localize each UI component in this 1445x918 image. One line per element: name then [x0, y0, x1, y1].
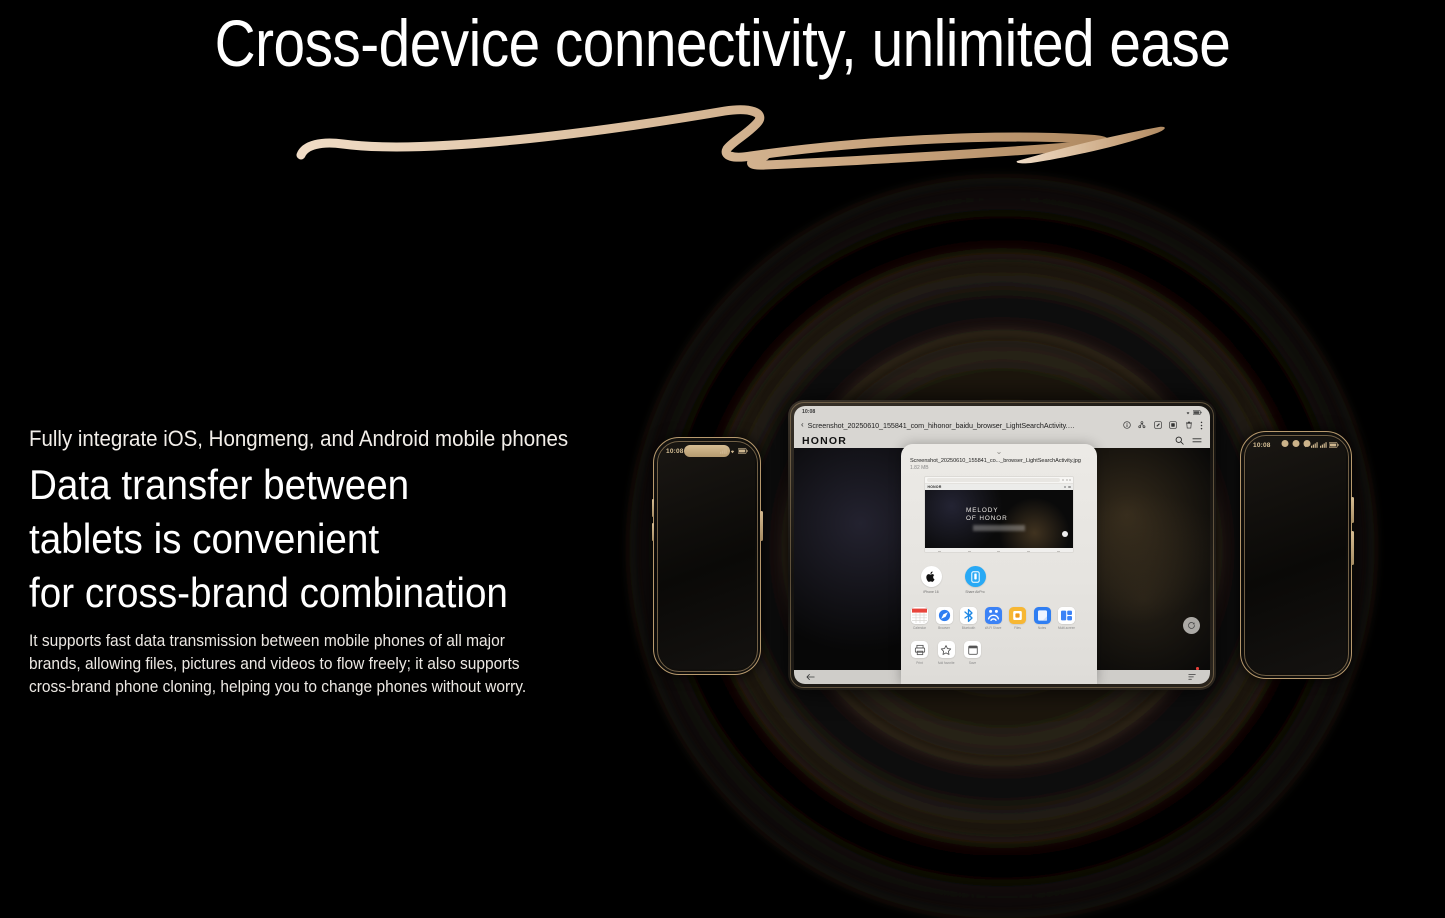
video-title-line-2: OF HONOR	[966, 515, 1032, 523]
share-app-favorite-label: Add favorite	[938, 661, 955, 665]
device-iphone-left[interactable]: 10:08	[653, 437, 761, 675]
body-line-3: cross-brand phone cloning, helping you t…	[29, 676, 612, 699]
share-app-notes[interactable]: Notes	[1034, 607, 1051, 631]
info-icon[interactable]	[1123, 421, 1131, 429]
android-power-button[interactable]	[1351, 497, 1354, 523]
browser-glyph	[936, 607, 953, 624]
rotate-icon[interactable]	[1183, 617, 1200, 634]
android-volume-button[interactable]	[1351, 531, 1354, 565]
tablet-screen: 10:08 ‹ Screenshot_20250610_155841_com_h…	[794, 406, 1210, 684]
copy-eyebrow: Fully integrate iOS, Hongmeng, and Andro…	[29, 424, 606, 454]
signal-icon	[720, 448, 727, 454]
gallery-top-chrome: 10:08 ‹ Screenshot_20250610_155841_com_h…	[794, 406, 1210, 448]
android-screen	[1246, 437, 1346, 673]
phone-share-icon	[965, 566, 986, 587]
preview-browser-bar	[925, 477, 1073, 484]
share-app-print[interactable]: Print	[911, 641, 928, 665]
marketing-copy-block: Fully integrate iOS, Hongmeng, and Andro…	[29, 424, 649, 699]
files-icon	[1009, 607, 1026, 624]
video-title-line-1: MELODY	[966, 507, 1032, 515]
share-sheet-filename: Screenshot_20250610_155841_co..._browser…	[910, 458, 1088, 464]
share-app-favorite[interactable]: Add favorite	[938, 641, 955, 665]
share-app-save[interactable]: Save	[964, 641, 981, 665]
nav-back-icon[interactable]	[806, 673, 815, 681]
more-icon[interactable]	[1200, 421, 1203, 430]
decorative-swoosh-icon	[295, 95, 1175, 175]
files-glyph	[1009, 607, 1026, 624]
preview-header-icons	[1064, 486, 1071, 489]
device-android-right[interactable]: 10:08	[1240, 431, 1352, 679]
share-app-browser-label: Browser	[936, 626, 953, 630]
iphone-volume-down-button[interactable]	[652, 523, 655, 541]
share-app-save-label: Save	[964, 661, 981, 665]
preview-record-dot-icon	[1062, 531, 1068, 537]
iphone-status-bar: 10:08	[659, 444, 755, 458]
share-app-calendar[interactable]: Calendar	[911, 607, 928, 631]
chevron-down-icon[interactable]: ⌄	[910, 448, 1088, 455]
bluetooth-icon	[960, 607, 977, 624]
multiscreen-glyph	[1058, 607, 1075, 624]
share-app-files[interactable]: Files	[1009, 607, 1026, 631]
share-app-bluetooth-label: Bluetooth	[960, 626, 977, 630]
phone-glyph	[971, 571, 980, 583]
tablet-status-bar: 10:08	[794, 406, 1210, 416]
share-app-wifi-share[interactable]: Wi-Fi Share	[985, 607, 1002, 631]
gallery-toolbar: ‹ Screenshot_20250610_155841_com_hihonor…	[794, 416, 1210, 433]
share-target-iphone[interactable]: iPhone 16	[916, 566, 946, 594]
share-targets-row: iPhone 16 Share AirPro	[916, 566, 1088, 594]
calendar-glyph	[911, 607, 928, 624]
heading-line-1: Data transfer between	[29, 458, 599, 512]
share-target-phone-share[interactable]: Share AirPro	[960, 566, 990, 594]
preview-video-title: MELODY OF HONOR	[966, 507, 1032, 523]
edit-icon[interactable]	[1154, 421, 1162, 429]
share-sheet-panel[interactable]: ⌄ Screenshot_20250610_155841_co..._brows…	[901, 444, 1097, 684]
preview-video-subtitle-blur	[973, 525, 1025, 531]
share-apps-row-1: Calendar Browser	[911, 607, 1088, 631]
share-app-notes-label: Notes	[1034, 626, 1051, 630]
list-glyph	[1188, 673, 1198, 681]
apple-logo-icon	[921, 566, 942, 587]
print-glyph	[914, 644, 926, 656]
notes-glyph	[1034, 607, 1051, 624]
honor-logo: HONOR	[802, 435, 847, 447]
share-app-wifi-label: Wi-Fi Share	[985, 626, 1002, 630]
wifi-icon	[1185, 410, 1191, 415]
gallery-filename: Screenshot_20250610_155841_com_hihonor_b…	[808, 421, 1076, 430]
signal-icon-1	[1311, 442, 1318, 448]
share-app-files-label: Files	[1009, 626, 1026, 630]
battery-icon	[738, 448, 748, 454]
preview-video-hero: MELODY OF HONOR	[925, 490, 1073, 548]
notes-icon	[1034, 607, 1051, 624]
notification-badge-dot	[1196, 667, 1199, 670]
browser-icon	[936, 607, 953, 624]
body-line-1: It supports fast data transmission betwe…	[29, 630, 612, 653]
save-glyph	[967, 644, 979, 656]
gallery-back-button[interactable]: ‹	[801, 421, 804, 429]
star-glyph	[940, 644, 952, 656]
battery-icon	[1193, 410, 1202, 415]
share-app-bluetooth[interactable]: Bluetooth	[960, 607, 977, 631]
share-app-multiscreen-label: Multi-screen	[1058, 626, 1075, 630]
share-preview-thumbnail: HONOR MELODY OF HONOR	[924, 476, 1074, 553]
bluetooth-glyph	[960, 607, 977, 624]
android-status-bar: 10:08	[1246, 438, 1346, 452]
preview-url-field	[927, 478, 1060, 482]
share-icon[interactable]	[1138, 421, 1146, 429]
signal-icon-2	[1320, 442, 1327, 448]
copy-heading: Data transfer between tablets is conveni…	[29, 458, 599, 620]
device-tablet-center[interactable]: 10:08 ‹ Screenshot_20250610_155841_com_h…	[788, 400, 1216, 690]
android-clock: 10:08	[1253, 442, 1271, 449]
heading-line-3: for cross-brand combination	[29, 566, 599, 620]
apple-glyph	[926, 571, 936, 582]
preview-honor-logo: HONOR	[928, 485, 942, 489]
android-status-icons	[1302, 442, 1339, 448]
share-sheet-filesize: 1.82 MB	[910, 465, 1088, 471]
share-app-print-label: Print	[911, 661, 928, 665]
share-app-browser[interactable]: Browser	[936, 607, 953, 631]
gallery-tool-icons	[1123, 421, 1204, 430]
search-icon[interactable]	[1175, 436, 1184, 445]
iphone-screen	[659, 443, 755, 669]
honor-brand-tools	[1175, 436, 1202, 445]
multiscreen-icon	[1058, 607, 1075, 624]
tablet-clock: 10:08	[802, 409, 815, 415]
share-target-iphone-label: iPhone 16	[916, 590, 946, 594]
rotate-glyph	[1187, 621, 1196, 630]
share-apps-row-2: Print Add favorite	[911, 641, 1088, 665]
print-icon	[911, 641, 928, 658]
preview-window-dots	[1062, 479, 1071, 481]
star-icon	[938, 641, 955, 658]
preview-control-bar	[925, 548, 1073, 553]
iphone-clock: 10:08	[666, 448, 684, 455]
iphone-volume-up-button[interactable]	[652, 499, 655, 517]
iphone-power-button[interactable]	[760, 511, 763, 541]
save-icon	[964, 641, 981, 658]
wifi-icon	[1302, 442, 1309, 448]
copy-body: It supports fast data transmission betwe…	[29, 630, 612, 699]
share-app-calendar-label: Calendar	[911, 626, 928, 630]
notification-list-icon[interactable]	[1188, 668, 1198, 684]
heading-line-2: tablets is convenient	[29, 512, 599, 566]
calendar-icon	[911, 607, 928, 624]
page-headline: Cross-device connectivity, unlimited eas…	[101, 4, 1344, 82]
wifi-share-glyph	[985, 607, 1002, 624]
body-line-2: brands, allowing files, pictures and vid…	[29, 653, 612, 676]
iphone-status-icons	[720, 448, 748, 454]
share-target-phone-label: Share AirPro	[960, 590, 990, 594]
export-icon[interactable]	[1169, 421, 1177, 429]
share-app-multiscreen[interactable]: Multi-screen	[1058, 607, 1075, 631]
delete-icon[interactable]	[1185, 421, 1193, 429]
wifi-share-icon	[985, 607, 1002, 624]
tablet-status-icons	[1185, 410, 1202, 415]
battery-icon	[1329, 442, 1339, 448]
menu-icon[interactable]	[1192, 436, 1202, 445]
wifi-icon	[729, 448, 736, 454]
